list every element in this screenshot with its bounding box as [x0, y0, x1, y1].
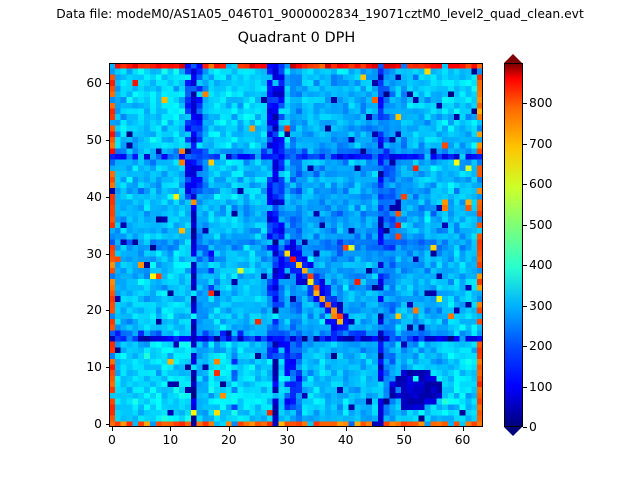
y-tick-label: 10	[63, 360, 102, 374]
y-tick-mark	[106, 310, 110, 311]
colorbar-tick-label: 400	[529, 258, 552, 272]
y-tick-label: 40	[63, 190, 102, 204]
x-tick-mark	[229, 427, 230, 431]
y-tick-label: 0	[63, 417, 102, 431]
y-tick-label: 60	[63, 76, 102, 90]
x-tick-mark	[346, 427, 347, 431]
data-file-suptitle: Data file: modeM0/AS1A05_046T01_90000028…	[0, 7, 640, 21]
x-tick-label: 50	[396, 433, 412, 447]
heatmap-axes	[109, 63, 483, 427]
plot-title: Quadrant 0 DPH	[109, 30, 484, 46]
heatmap-image	[109, 63, 483, 427]
colorbar-tick-mark	[523, 144, 527, 145]
colorbar-gradient	[504, 63, 523, 427]
x-tick-label: 60	[455, 433, 471, 447]
x-tick-mark	[463, 427, 464, 431]
x-tick-mark	[112, 427, 113, 431]
colorbar-tick-mark	[523, 265, 527, 266]
colorbar-tick-label: 600	[529, 177, 552, 191]
matplotlib-figure: Data file: modeM0/AS1A05_046T01_90000028…	[0, 0, 640, 480]
x-tick-mark	[170, 427, 171, 431]
x-tick-mark	[287, 427, 288, 431]
y-tick-label: 50	[63, 133, 102, 147]
x-tick-label: 10	[163, 433, 179, 447]
colorbar: 0100200300400500600700800	[504, 63, 523, 427]
y-tick-mark	[106, 140, 110, 141]
y-tick-label: 20	[63, 303, 102, 317]
x-tick-label: 40	[338, 433, 354, 447]
colorbar-tick-mark	[523, 387, 527, 388]
colorbar-tick-mark	[523, 427, 527, 428]
x-tick-label: 30	[279, 433, 295, 447]
colorbar-tick-label: 500	[529, 218, 552, 232]
colorbar-over-arrow	[504, 54, 522, 63]
y-tick-label: 30	[63, 247, 102, 261]
y-tick-mark	[106, 254, 110, 255]
y-tick-mark	[106, 197, 110, 198]
colorbar-tick-label: 200	[529, 339, 552, 353]
colorbar-tick-mark	[523, 225, 527, 226]
x-tick-label: 0	[108, 433, 116, 447]
colorbar-tick-label: 300	[529, 299, 552, 313]
colorbar-under-arrow	[504, 427, 522, 436]
colorbar-tick-label: 700	[529, 137, 552, 151]
colorbar-tick-label: 100	[529, 380, 552, 394]
colorbar-tick-label: 0	[529, 420, 537, 434]
colorbar-tick-mark	[523, 184, 527, 185]
y-tick-mark	[106, 424, 110, 425]
x-tick-mark	[404, 427, 405, 431]
y-tick-mark	[106, 83, 110, 84]
x-tick-label: 20	[221, 433, 237, 447]
colorbar-tick-mark	[523, 346, 527, 347]
y-tick-mark	[106, 367, 110, 368]
colorbar-tick-label: 800	[529, 96, 552, 110]
colorbar-tick-mark	[523, 306, 527, 307]
colorbar-tick-mark	[523, 103, 527, 104]
